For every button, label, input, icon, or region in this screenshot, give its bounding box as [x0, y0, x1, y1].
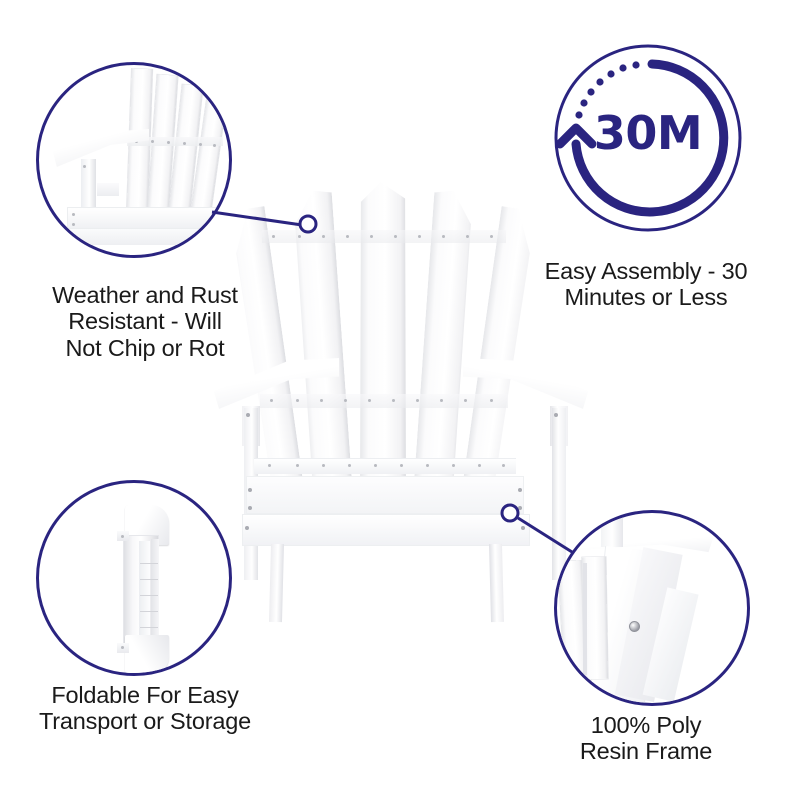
infographic-canvas: Weather and Rust Resistant - Will Not Ch… [0, 0, 800, 800]
chair-upper-rail-screw-row [266, 231, 506, 242]
callout-weather-rust-caption: Weather and Rust Resistant - Will Not Ch… [0, 282, 290, 361]
armrest-left-screw [246, 413, 250, 417]
callout-poly-resin-circle [554, 510, 750, 706]
armrest-right-screw [554, 413, 558, 417]
callout-weather-rust-circle [36, 62, 232, 258]
callout-foldable-circle [36, 480, 232, 676]
callout-foldable: Foldable For Easy Transport or Storage [0, 460, 300, 800]
detail-seat-apron [67, 207, 227, 229]
callout-easy-assembly-caption: Easy Assembly - 30 Minutes or Less [500, 258, 792, 311]
detail-chair-side-view [39, 65, 232, 258]
thirty-minute-clock-icon: 30M [548, 38, 748, 238]
callout-foldable-caption: Foldable For Easy Transport or Storage [0, 682, 290, 735]
callout-poly-resin: 100% Poly Resin Frame [500, 460, 800, 800]
detail-seat-leg-joint [557, 513, 750, 706]
callout-weather-rust: Weather and Rust Resistant - Will Not Ch… [0, 0, 300, 360]
detail-leg-screw [629, 621, 640, 632]
detail-chair-folded-flat [39, 483, 232, 676]
detail-seat-apron-lower [69, 229, 227, 245]
callout-poly-resin-caption: 100% Poly Resin Frame [500, 712, 792, 765]
callout-easy-assembly: 30M Easy Assembly - 30 Minutes or Less [500, 0, 800, 340]
thirty-minute-label: 30M [548, 110, 748, 156]
chair-mid-rail-screw-row [264, 396, 506, 407]
